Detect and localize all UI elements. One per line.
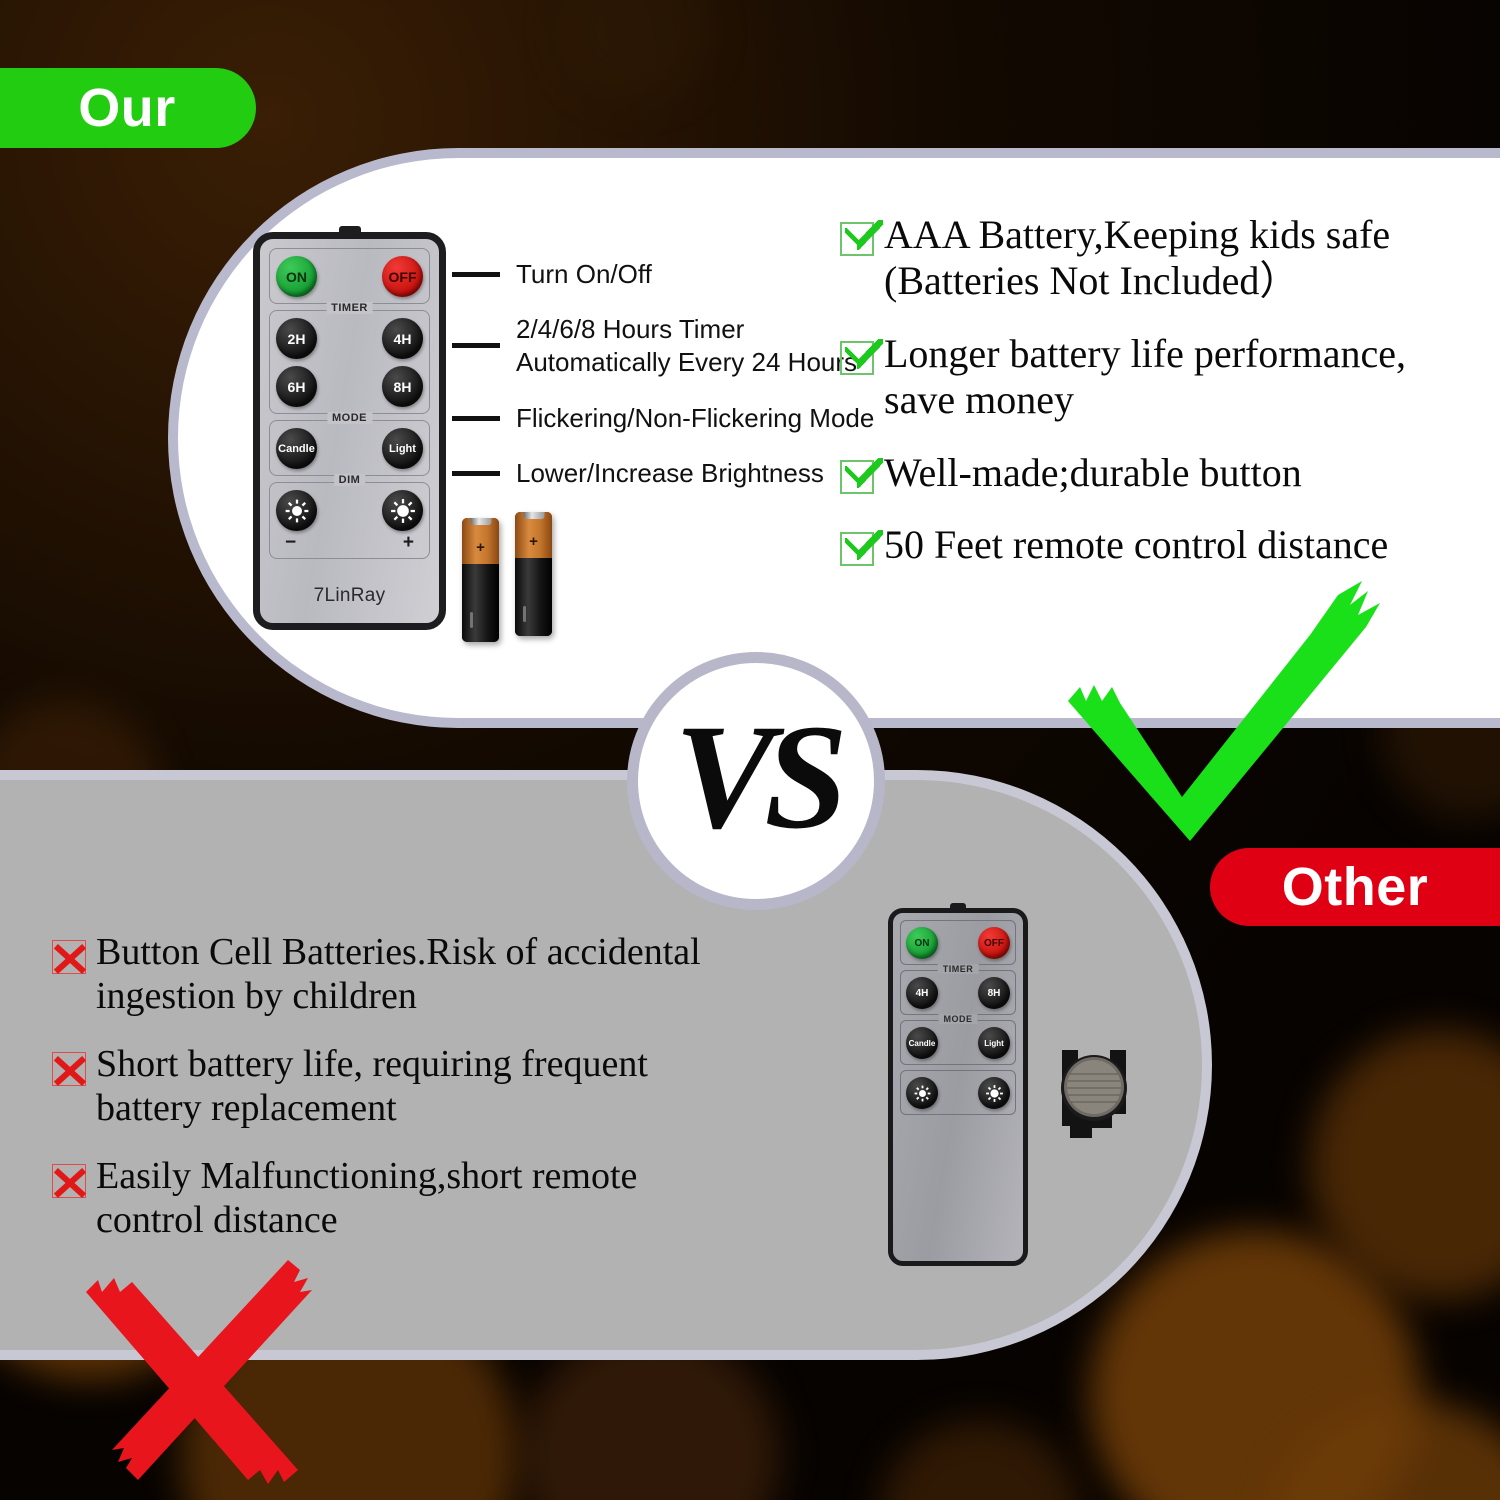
light-mode-button[interactable]: Light [382, 428, 423, 469]
sun-icon [913, 1084, 932, 1103]
timer-group-label: TIMER [326, 302, 373, 314]
mode-group-label: MODE [939, 1014, 978, 1024]
list-item: Longer battery life performance, save mo… [840, 331, 1490, 424]
off-button[interactable]: OFF [978, 927, 1010, 959]
callout-dim: Lower/Increase Brightness [452, 457, 824, 490]
callout-power: Turn On/Off [452, 258, 652, 291]
other-remote: ON OFF TIMER 4H 8H MODE Candle Light [888, 908, 1028, 1266]
callout-timer: 2/4/6/8 Hours Timer Automatically Every … [452, 313, 857, 379]
cons-text: Short battery life, requiring frequent b… [96, 1042, 648, 1130]
battery-positive-end: + [462, 518, 499, 564]
our-badge-label: Our [78, 77, 176, 139]
light-mode-button[interactable]: Light [978, 1027, 1010, 1059]
comparison-infographic: Our ON OFF TIMER 2H 4H 6H 8H MODE Candle… [0, 0, 1500, 1500]
big-cross-icon [72, 1252, 340, 1500]
dim-up-button[interactable] [978, 1077, 1010, 1109]
cross-icon [52, 940, 86, 974]
dim-group-label: DIM [334, 474, 366, 486]
leader-line [452, 343, 500, 348]
timer-2h-button[interactable]: 2H [276, 318, 317, 359]
big-check-icon [1062, 575, 1430, 847]
pros-text: 50 Feet remote control distance [884, 522, 1388, 568]
leader-line [452, 416, 500, 421]
on-button[interactable]: ON [276, 256, 317, 297]
battery-cap [523, 512, 544, 519]
list-item: Short battery life, requiring frequent b… [52, 1042, 792, 1130]
timer-6h-button[interactable]: 6H [276, 366, 317, 407]
dim-down-button[interactable] [906, 1077, 938, 1109]
other-badge: Other [1210, 848, 1500, 926]
off-button[interactable]: OFF [382, 256, 423, 297]
pros-text: Well-made;durable button [884, 450, 1302, 496]
callout-text: Flickering/Non-Flickering Mode [516, 402, 874, 435]
check-icon [840, 532, 874, 566]
callout-text: Turn On/Off [516, 258, 652, 291]
cross-icon [52, 1164, 86, 1198]
sun-bright-icon [390, 498, 416, 524]
brand-label: 7LinRay [260, 585, 439, 607]
mode-group: MODE Candle Light [900, 1020, 1016, 1065]
dim-group: DIM [269, 482, 430, 559]
coin-cell-battery [1048, 1040, 1140, 1150]
ir-emitter-nub [339, 226, 361, 234]
dim-plus-label: + [403, 533, 414, 552]
timer-group-label: TIMER [938, 964, 979, 974]
timer-4h-button[interactable]: 4H [906, 977, 938, 1009]
timer-8h-button[interactable]: 8H [382, 366, 423, 407]
sun-icon [284, 498, 310, 524]
timer-4h-button[interactable]: 4H [382, 318, 423, 359]
mode-group: MODE Candle Light [269, 420, 430, 476]
battery-body [515, 558, 552, 636]
dim-group [900, 1070, 1016, 1115]
check-icon [840, 460, 874, 494]
sun-bright-icon [985, 1084, 1004, 1103]
mode-group-label: MODE [327, 412, 372, 424]
list-item: 50 Feet remote control distance [840, 522, 1490, 568]
leader-line [452, 471, 500, 476]
timer-group: TIMER 2H 4H 6H 8H [269, 310, 430, 414]
cons-text: Easily Malfunctioning,short remote contr… [96, 1154, 637, 1242]
our-remote: ON OFF TIMER 2H 4H 6H 8H MODE Candle Lig… [253, 232, 446, 630]
timer-8h-button[interactable]: 8H [978, 977, 1010, 1009]
timer-group: TIMER 4H 8H [900, 970, 1016, 1015]
battery-positive-end: + [515, 512, 552, 558]
pros-list: AAA Battery,Keeping kids safe (Batteries… [840, 212, 1490, 594]
power-group: ON OFF [269, 248, 430, 304]
battery-polarity-label: + [462, 540, 499, 555]
dim-up-button[interactable] [382, 490, 423, 531]
our-badge: Our [0, 68, 256, 148]
callout-text: Lower/Increase Brightness [516, 457, 824, 490]
list-item: Easily Malfunctioning,short remote contr… [52, 1154, 792, 1242]
pros-text: AAA Battery,Keeping kids safe (Batteries… [884, 212, 1390, 305]
cons-text: Button Cell Batteries.Risk of accidental… [96, 930, 701, 1018]
leader-line [452, 272, 500, 277]
pros-text: Longer battery life performance, save mo… [884, 331, 1406, 424]
vs-label: VS [674, 702, 837, 852]
candle-mode-button[interactable]: Candle [906, 1027, 938, 1059]
aaa-battery-1: + [462, 518, 499, 642]
power-group: ON OFF [900, 920, 1016, 965]
ir-emitter-nub [950, 903, 966, 909]
cross-icon [52, 1052, 86, 1086]
cons-list: Button Cell Batteries.Risk of accidental… [52, 930, 792, 1266]
list-item: Well-made;durable button [840, 450, 1490, 496]
candle-mode-button[interactable]: Candle [276, 428, 317, 469]
check-icon [840, 222, 874, 256]
vs-badge: VS [627, 652, 885, 910]
battery-body [462, 564, 499, 642]
other-badge-label: Other [1282, 856, 1429, 918]
on-button[interactable]: ON [906, 927, 938, 959]
list-item: AAA Battery,Keeping kids safe (Batteries… [840, 212, 1490, 305]
callout-mode: Flickering/Non-Flickering Mode [452, 402, 874, 435]
battery-cap [470, 518, 491, 525]
check-icon [840, 341, 874, 375]
list-item: Button Cell Batteries.Risk of accidental… [52, 930, 792, 1018]
dim-down-button[interactable] [276, 490, 317, 531]
dim-minus-label: − [285, 533, 296, 552]
battery-polarity-label: + [515, 534, 552, 549]
callout-text: 2/4/6/8 Hours Timer Automatically Every … [516, 313, 857, 379]
aaa-battery-2: + [515, 512, 552, 636]
